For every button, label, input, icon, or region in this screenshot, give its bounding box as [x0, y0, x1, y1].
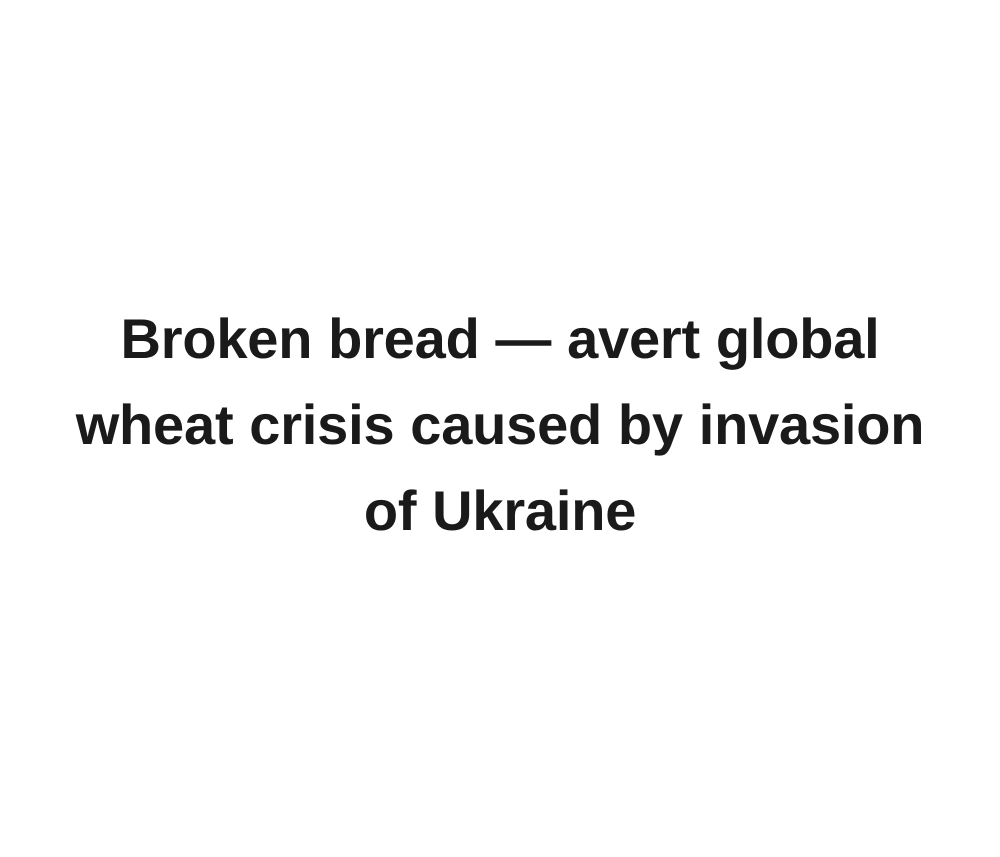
page-canvas: Broken bread — avert global wheat crisis…: [0, 0, 1000, 857]
headline-line-2: wheat crisis caused by invasion: [40, 382, 960, 468]
page-title: Broken bread — avert global wheat crisis…: [40, 296, 960, 554]
headline-line-3: of Ukraine: [40, 468, 960, 554]
title-block: Broken bread — avert global wheat crisis…: [0, 296, 1000, 554]
headline-line-1: Broken bread — avert global: [40, 296, 960, 382]
